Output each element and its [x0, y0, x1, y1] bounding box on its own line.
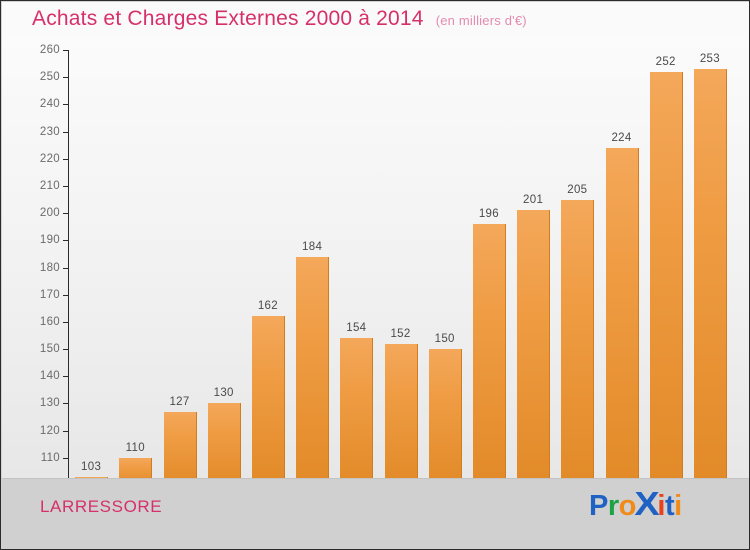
bar[interactable]: [606, 148, 639, 485]
y-axis-tick: [63, 322, 69, 323]
bar[interactable]: [517, 210, 550, 485]
bar-value-label: 205: [547, 184, 607, 196]
y-axis-label: 160: [14, 316, 60, 328]
entity-name: LARRESSORE: [40, 497, 162, 517]
y-axis-label: 220: [14, 153, 60, 165]
bar-value-label: 224: [592, 132, 652, 144]
y-axis-tick: [63, 403, 69, 404]
bar-value-label: 110: [105, 442, 165, 454]
y-axis-tick: [63, 132, 69, 133]
y-axis-label: 170: [14, 289, 60, 301]
bar-value-label: 196: [459, 208, 519, 220]
plot-area: 1001101201301401501601701801902002102202…: [2, 38, 750, 478]
y-axis-tick: [63, 240, 69, 241]
bar[interactable]: [561, 200, 594, 485]
bar-value-label: 150: [415, 333, 475, 345]
y-axis-tick: [63, 186, 69, 187]
y-axis-label: 200: [14, 207, 60, 219]
bar-value-label: 253: [680, 53, 740, 65]
y-axis-tick: [63, 213, 69, 214]
bar[interactable]: [650, 72, 683, 485]
bar[interactable]: [252, 316, 285, 485]
y-axis-tick: [63, 295, 69, 296]
chart-subtitle: (en milliers d'€): [436, 13, 527, 28]
y-axis-tick: [63, 458, 69, 459]
bar[interactable]: [164, 412, 197, 485]
bar-value-label: 184: [282, 241, 342, 253]
title-line: Achats et Charges Externes 2000 à 2014(e…: [32, 7, 527, 31]
y-axis-tick: [63, 431, 69, 432]
page-title: Achats et Charges Externes 2000 à 2014: [32, 7, 424, 30]
y-axis-label: 240: [14, 98, 60, 110]
bar[interactable]: [473, 224, 506, 485]
logo-letter: r: [608, 492, 619, 521]
y-axis-label: 210: [14, 180, 60, 192]
y-axis-tick: [63, 268, 69, 269]
logo-letter: X: [634, 487, 659, 520]
y-axis-label: 140: [14, 370, 60, 382]
logo-letter: o: [619, 492, 636, 521]
y-axis-tick: [63, 349, 69, 350]
bar-value-label: 162: [238, 300, 298, 312]
y-axis-tick: [63, 50, 69, 51]
y-axis-label: 250: [14, 71, 60, 83]
logo-letter: i: [674, 492, 682, 521]
y-axis-tick: [63, 159, 69, 160]
logo-letter: t: [665, 492, 674, 521]
chart-screenshot: Achats et Charges Externes 2000 à 2014(e…: [0, 0, 750, 550]
y-axis-tick: [63, 104, 69, 105]
bar-value-label: 130: [194, 387, 254, 399]
bar[interactable]: [694, 69, 727, 485]
y-axis-label: 230: [14, 126, 60, 138]
y-axis-label: 110: [14, 452, 60, 464]
chart-header: Achats et Charges Externes 2000 à 2014(e…: [2, 2, 750, 38]
bar[interactable]: [429, 349, 462, 485]
y-axis-label: 180: [14, 262, 60, 274]
y-axis-label: 120: [14, 425, 60, 437]
y-axis-label: 260: [14, 44, 60, 56]
y-axis-tick: [63, 77, 69, 78]
bar[interactable]: [385, 344, 418, 485]
bar[interactable]: [340, 338, 373, 485]
y-axis-label: 150: [14, 343, 60, 355]
bar[interactable]: [208, 403, 241, 485]
logo-letter: P: [589, 492, 608, 521]
proxiti-logo[interactable]: ProXiti: [589, 487, 682, 521]
y-axis-tick: [63, 376, 69, 377]
y-axis-label: 190: [14, 234, 60, 246]
bar-value-label: 201: [503, 194, 563, 206]
bar-value-label: 103: [61, 461, 121, 473]
bar[interactable]: [296, 257, 329, 485]
y-axis-label: 130: [14, 397, 60, 409]
